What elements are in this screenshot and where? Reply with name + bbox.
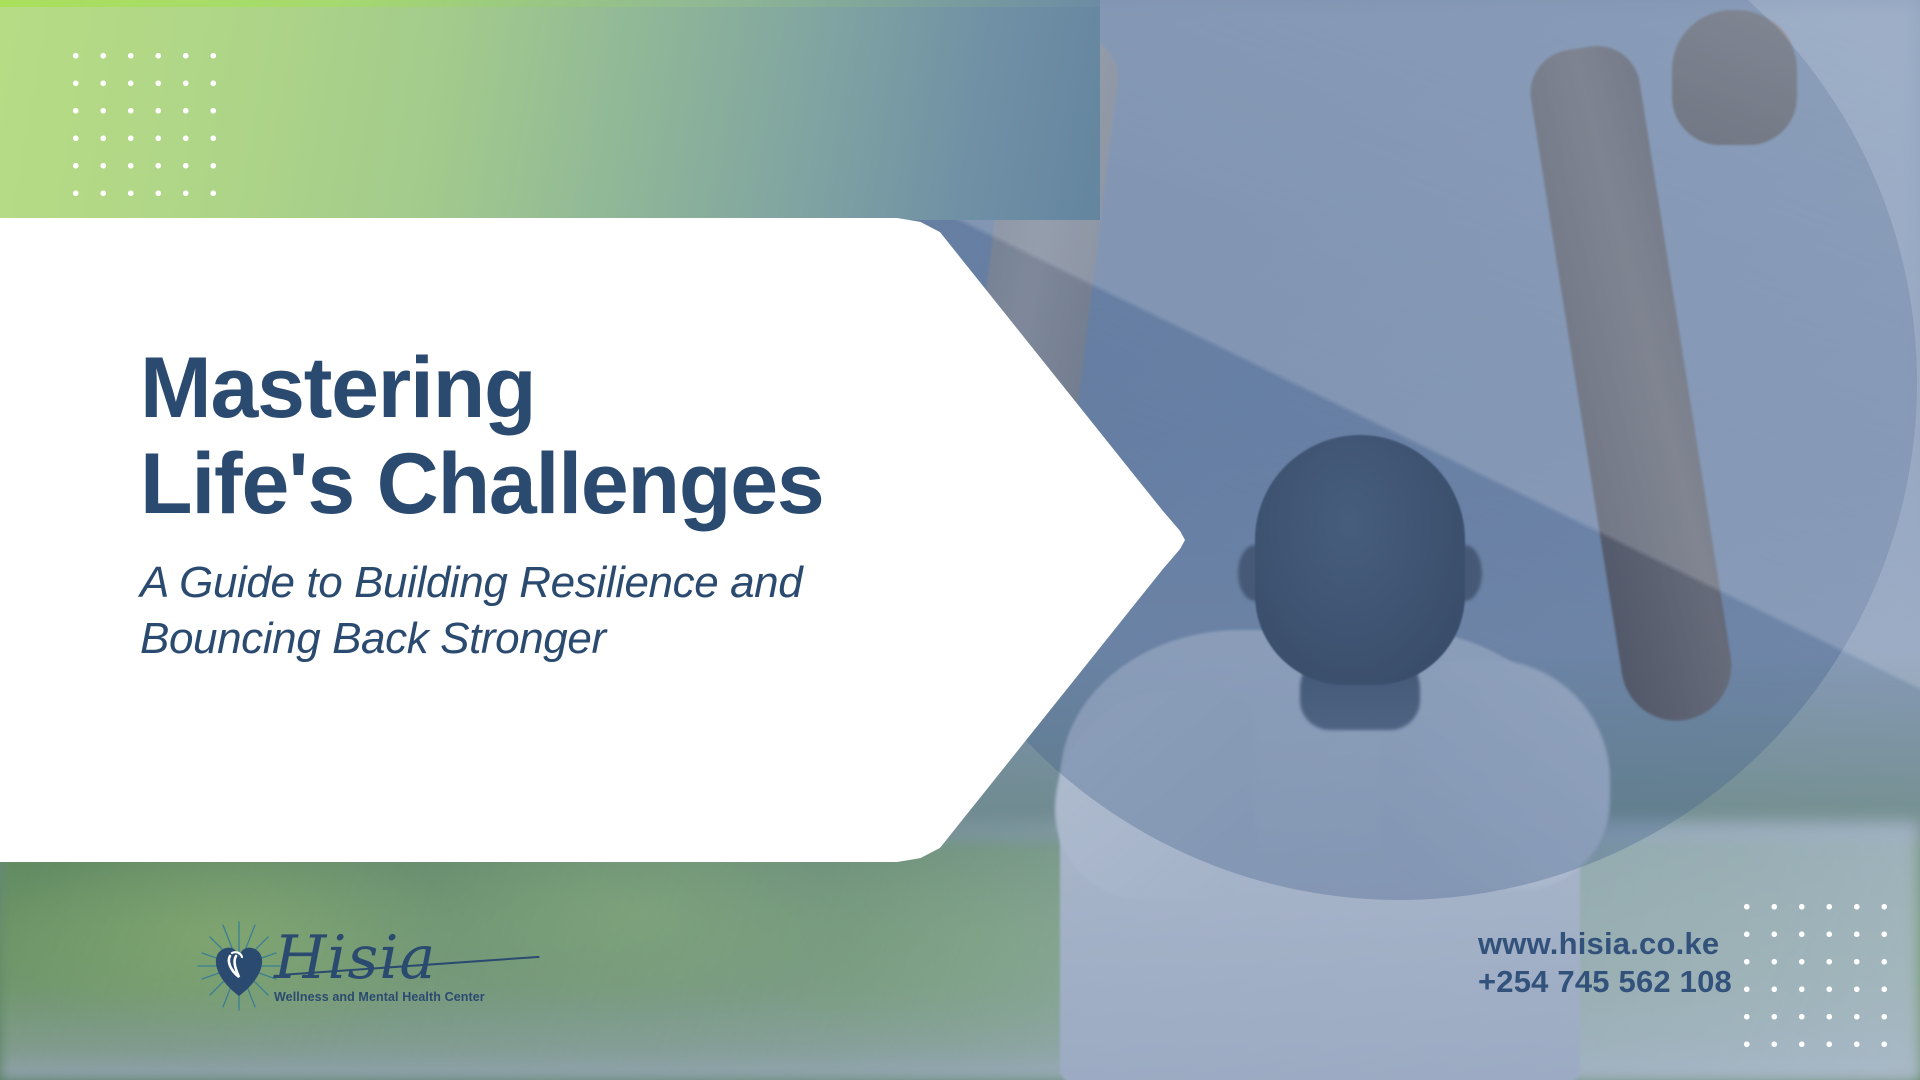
- headline-block: Mastering Life's Challenges A Guide to B…: [140, 340, 1020, 667]
- dot-grid-bottom-right-icon: [1733, 893, 1899, 1059]
- heart-sunburst-icon: [196, 920, 282, 1012]
- phone-number[interactable]: +254 745 562 108: [1478, 963, 1732, 1001]
- brand-logo[interactable]: Hisia Wellness and Mental Health Center: [196, 912, 496, 1020]
- website-link[interactable]: www.hisia.co.ke: [1478, 925, 1732, 963]
- top-green-accent-stripe: [0, 0, 1100, 7]
- brand-wordmark-group: Hisia Wellness and Mental Health Center: [274, 928, 485, 1004]
- brand-tagline: Wellness and Mental Health Center: [274, 990, 485, 1004]
- dot-grid-top-left-icon: [62, 42, 228, 208]
- contact-block: www.hisia.co.ke +254 745 562 108: [1478, 925, 1732, 1001]
- page-title: Mastering Life's Challenges: [140, 340, 1020, 533]
- banner-root: Mastering Life's Challenges A Guide to B…: [0, 0, 1920, 1080]
- page-subtitle: A Guide to Building Resilience and Bounc…: [140, 555, 1020, 668]
- brand-wordmark: Hisia: [274, 928, 485, 988]
